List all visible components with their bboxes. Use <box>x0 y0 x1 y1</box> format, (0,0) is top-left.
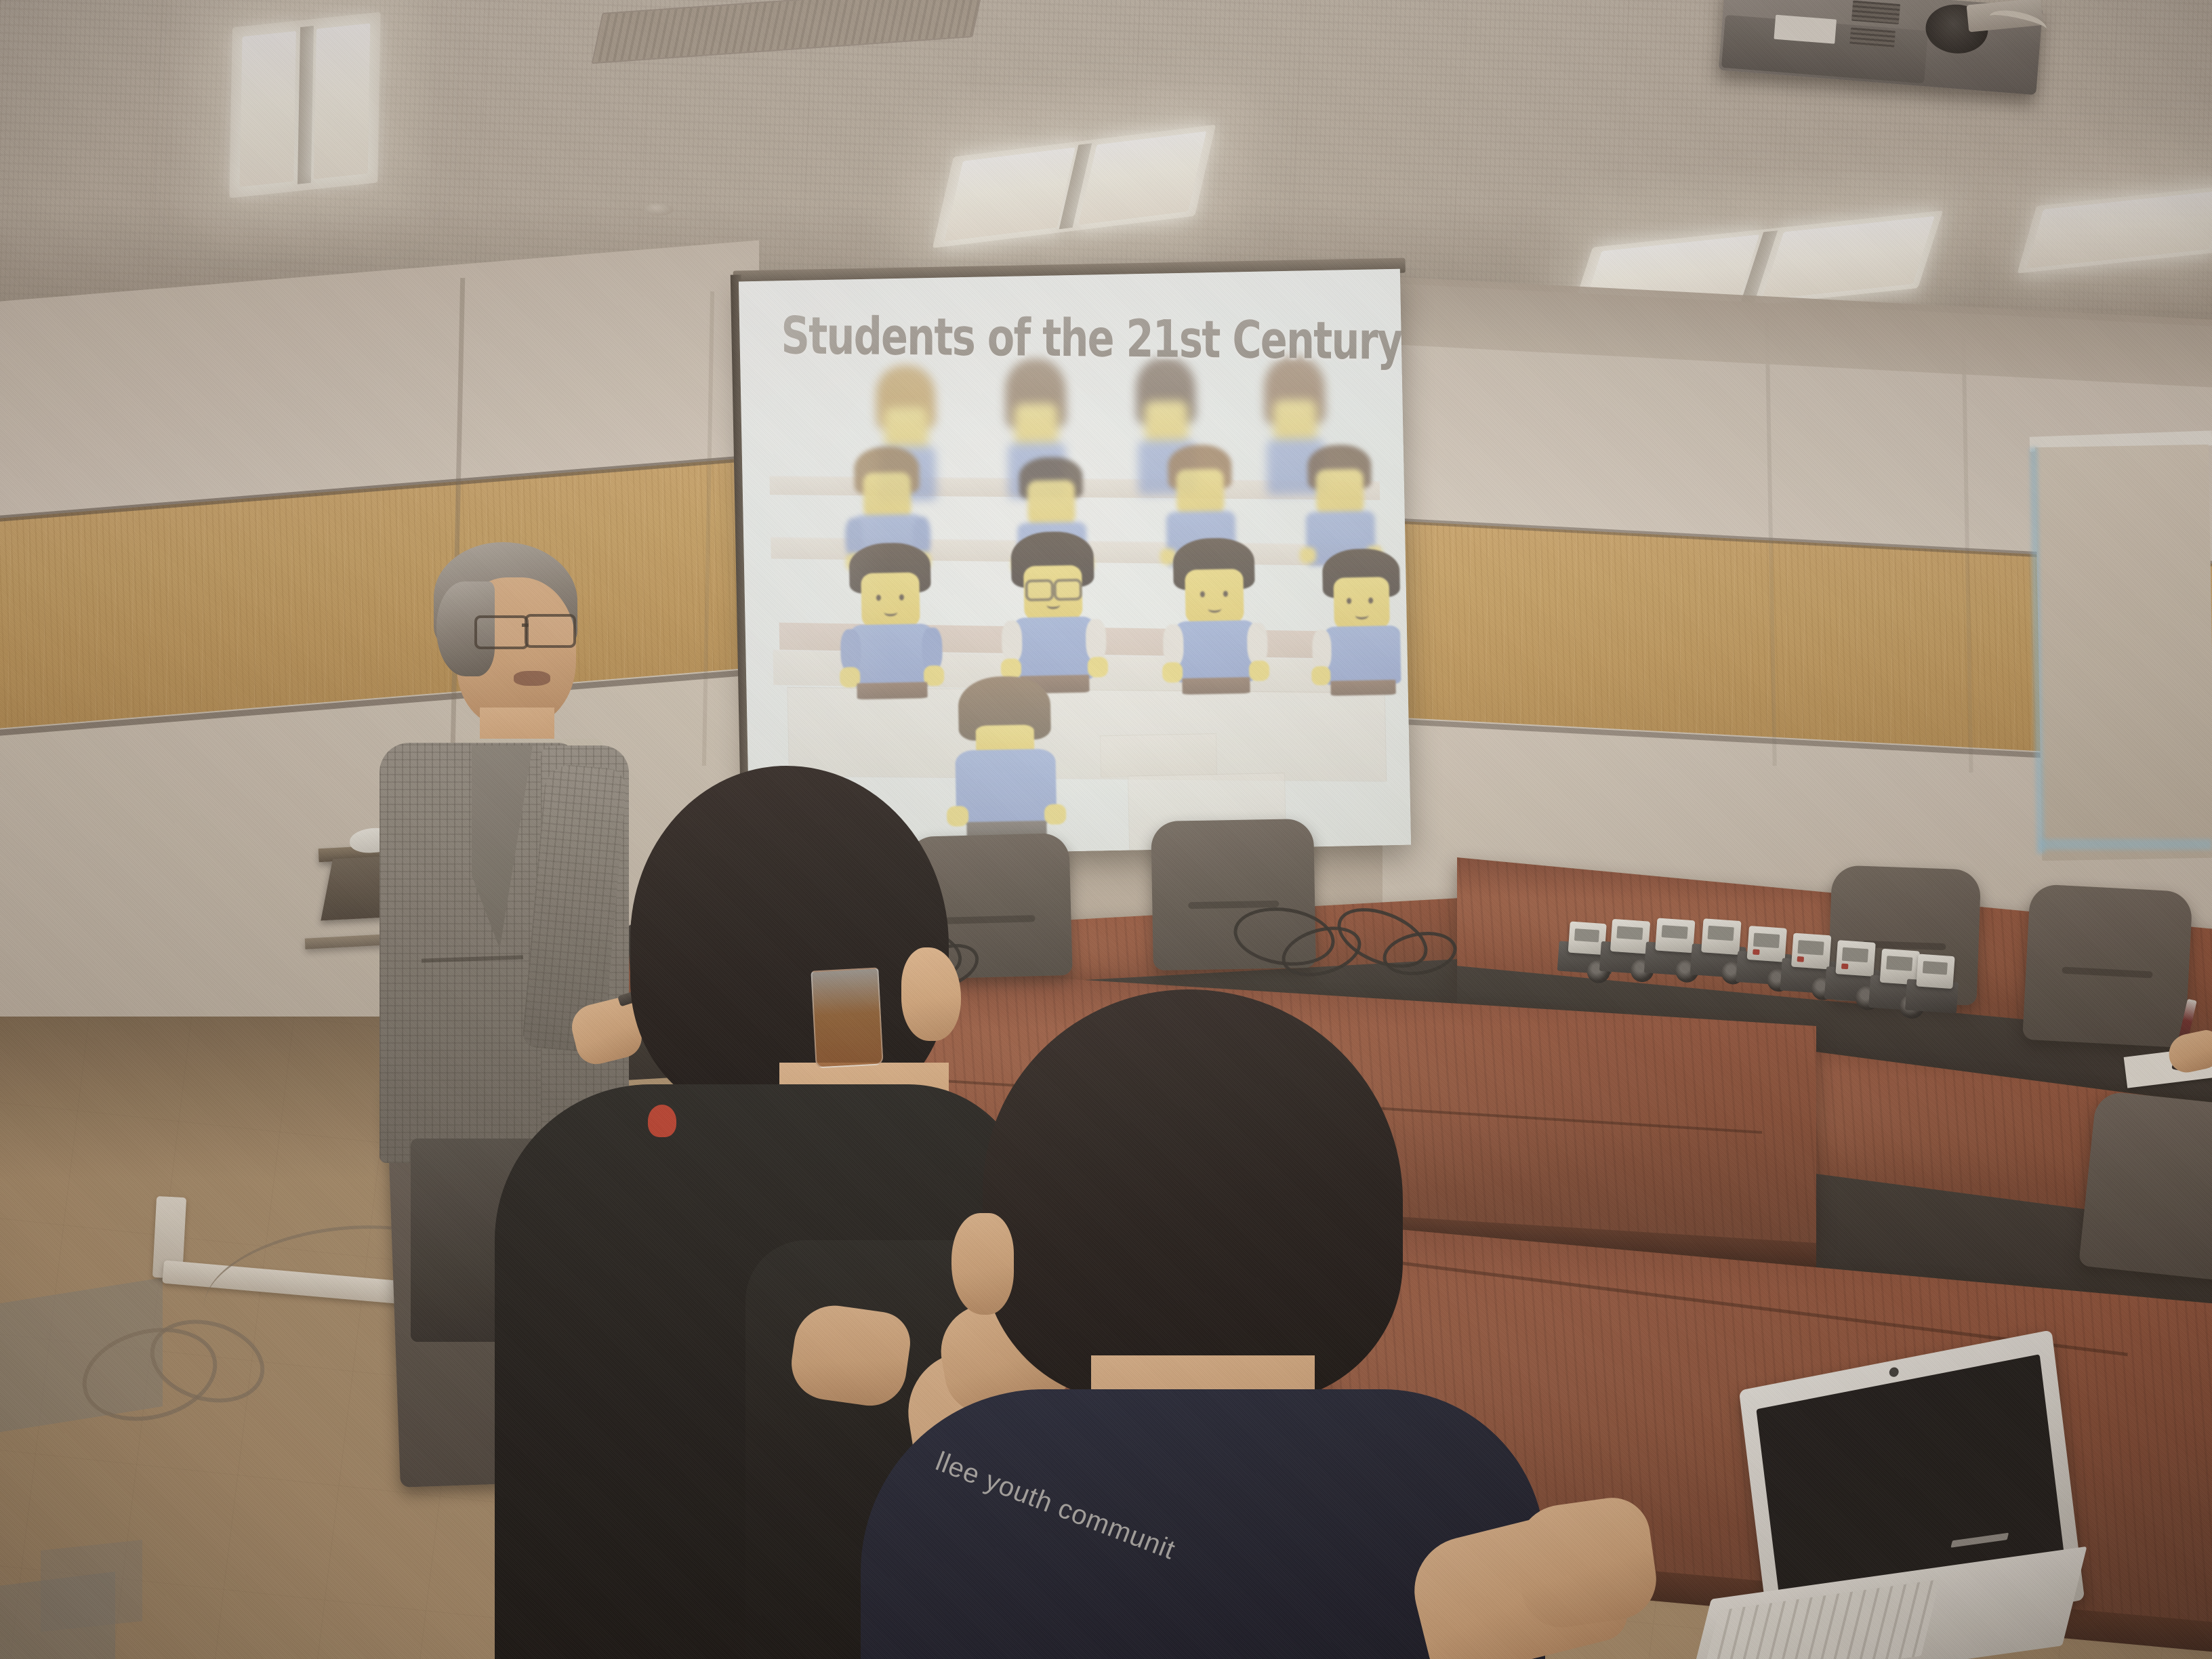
chair-right-3[interactable] <box>2078 1090 2212 1282</box>
drink-glass[interactable] <box>811 967 883 1068</box>
attendee2-hair <box>983 989 1403 1403</box>
slide-title: Students of the 21st Century <box>781 305 1305 370</box>
lego-minifig-front-4 <box>1307 548 1411 693</box>
lego-minifig-front-2 <box>994 531 1113 694</box>
lego-minifig-front-3 <box>1155 537 1273 695</box>
carpet-tile-3 <box>41 1540 142 1632</box>
ceiling-light-1 <box>229 12 380 199</box>
attendee-navy-shirt: llee youth communit <box>942 989 1620 1659</box>
smoke-detector-icon <box>644 203 674 216</box>
presenter-glasses-bridge <box>522 623 529 627</box>
projector-label <box>1774 15 1837 44</box>
window-blind <box>2035 445 2212 861</box>
attendee2-ear <box>951 1213 1014 1315</box>
chair-right-2[interactable] <box>2022 884 2193 1048</box>
attendee1-shoulder-logo <box>648 1105 676 1137</box>
window-light-bottom <box>2040 839 2212 850</box>
lego-minifig-front-1 <box>832 542 949 700</box>
presenter-mouth <box>514 671 550 686</box>
seminar-room-photo: Students of the 21st Century <box>0 0 2212 1659</box>
presenter-glasses <box>474 615 529 649</box>
presenter-glasses-right <box>525 614 576 648</box>
white-laptop-webcam-icon <box>1889 1366 1899 1378</box>
